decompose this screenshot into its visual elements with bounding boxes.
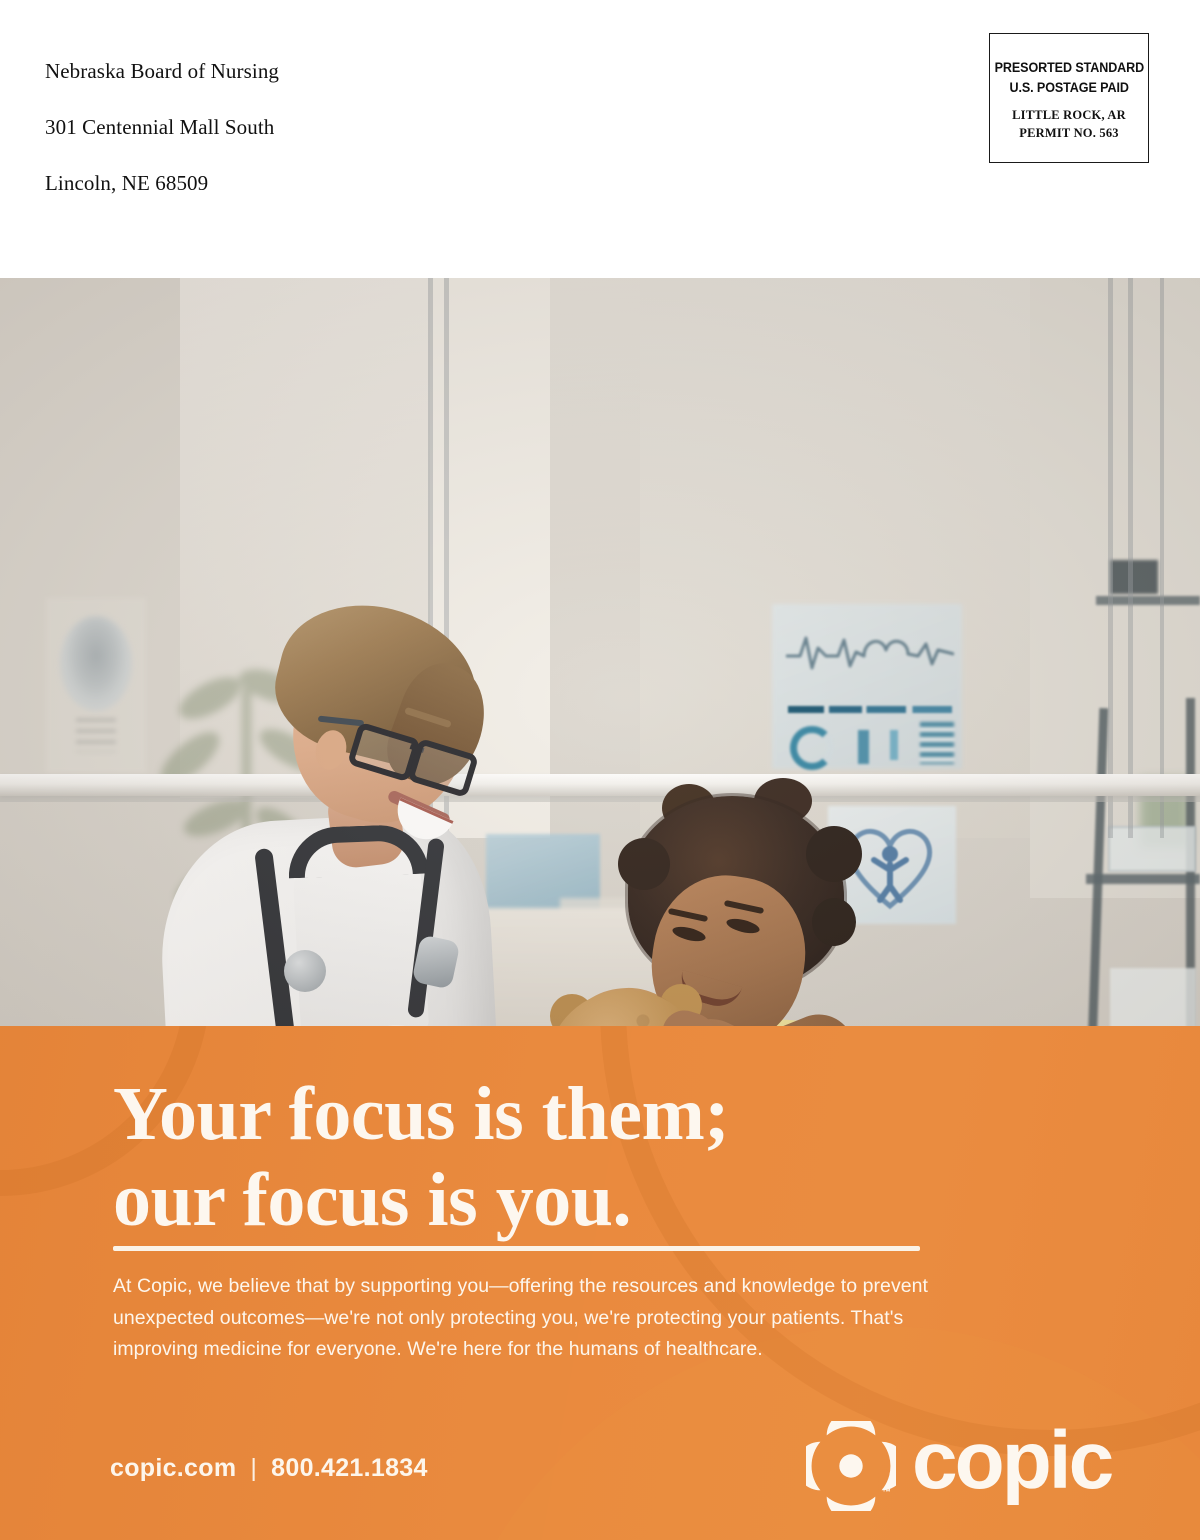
ad-contact-line: copic.com | 800.421.1834 bbox=[110, 1454, 428, 1483]
postage-city-line: LITTLE ROCK, AR bbox=[1012, 106, 1126, 124]
wall-poster-left-text bbox=[76, 718, 116, 752]
ad-divider-rule bbox=[113, 1246, 920, 1251]
poster-donut-chart bbox=[790, 726, 834, 770]
copic-petal-mark-svg bbox=[806, 1421, 896, 1511]
return-address-line-1: Nebraska Board of Nursing bbox=[45, 58, 279, 86]
child-hair-curl-right bbox=[806, 826, 862, 882]
phone-number[interactable]: 800.421.1834 bbox=[271, 1454, 428, 1483]
glass-mullion-5 bbox=[1160, 278, 1164, 838]
rack-bin-1 bbox=[1108, 826, 1196, 872]
return-address: Nebraska Board of Nursing 301 Centennial… bbox=[45, 30, 279, 225]
poster-glyph-arrow bbox=[858, 730, 869, 764]
glass-rail bbox=[0, 774, 1200, 796]
hero-photo bbox=[0, 278, 1200, 1026]
ad-headline-line-2: our focus is you. bbox=[113, 1158, 1013, 1244]
return-address-line-2: 301 Centennial Mall South bbox=[45, 114, 279, 142]
postage-paid-line: U.S. POSTAGE PAID bbox=[1009, 78, 1128, 98]
contact-separator: | bbox=[236, 1454, 271, 1483]
child-hair-curl-lower-right bbox=[812, 898, 856, 946]
postage-class-line: PRESORTED STANDARD bbox=[994, 58, 1143, 78]
copic-logo-mark-icon: ™ bbox=[806, 1421, 896, 1511]
website-link[interactable]: copic.com bbox=[110, 1454, 236, 1483]
glass-rail-shadow bbox=[0, 796, 1200, 802]
ad-headline-line-1: Your focus is them; bbox=[113, 1072, 1013, 1158]
rack-shelf-1 bbox=[1086, 874, 1200, 884]
mailer-header: Nebraska Board of Nursing 301 Centennial… bbox=[0, 0, 1200, 278]
child-hair-curl-left bbox=[618, 838, 670, 890]
postage-indicia-box: PRESORTED STANDARD U.S. POSTAGE PAID LIT… bbox=[989, 33, 1149, 163]
rack-top-box bbox=[1110, 560, 1158, 594]
postage-permit-line: PERMIT NO. 563 bbox=[1019, 124, 1118, 142]
copic-wordmark: copic bbox=[912, 1420, 1111, 1502]
poster-glyph-stack bbox=[920, 722, 954, 764]
ekg-line-svg bbox=[786, 626, 954, 674]
ekg-heartbeat-icon bbox=[786, 626, 954, 674]
rack-bin-2 bbox=[1110, 968, 1196, 1026]
stethoscope-bell-icon bbox=[284, 950, 326, 992]
poster-glyph-bar bbox=[890, 730, 898, 760]
copic-logo[interactable]: ™ copic bbox=[806, 1420, 1116, 1512]
glass-mullion-4 bbox=[1128, 278, 1133, 838]
glass-mullion-3 bbox=[1108, 278, 1113, 838]
ad-body-copy: At Copic, we believe that by supporting … bbox=[113, 1271, 973, 1366]
trademark-symbol: ™ bbox=[882, 1487, 891, 1497]
ad-headline: Your focus is them; our focus is you. bbox=[113, 1072, 1013, 1244]
return-address-line-3: Lincoln, NE 68509 bbox=[45, 170, 279, 198]
poster-bar-row bbox=[788, 706, 952, 713]
wall-poster-left-icon bbox=[60, 616, 132, 711]
